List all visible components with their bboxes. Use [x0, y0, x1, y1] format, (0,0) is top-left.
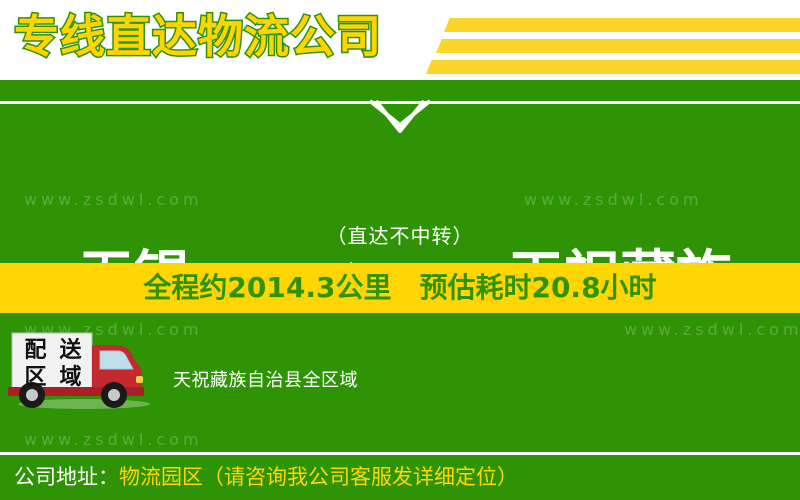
header-stripe-3 — [426, 60, 800, 74]
truck-box-char: 配 — [18, 337, 53, 364]
company-headline: 专线直达物流公司 — [14, 8, 382, 66]
delivery-area-text: 天祝藏族自治县全区域 — [173, 366, 358, 392]
truck-box-char: 域 — [53, 364, 88, 391]
watermark: www.zsdwl.com — [24, 190, 203, 209]
chevron-down-icon — [368, 99, 432, 133]
truck-box-char: 区 — [18, 364, 53, 391]
logistics-banner: 专线直达物流公司 www.zsdwl.com www.zsdwl.com www… — [0, 0, 800, 500]
origin-city: 无锡 — [78, 248, 190, 263]
company-address-value: 物流园区（请咨询我公司客服发详细定位） — [119, 465, 518, 489]
metrics-band: 全程约2014.3公里 预估耗时20.8小时 — [0, 263, 800, 313]
distance-duration-text: 全程约2014.3公里 预估耗时20.8小时 — [0, 263, 800, 313]
banner-header: 专线直达物流公司 — [0, 0, 800, 80]
company-address: 公司地址：物流园区（请咨询我公司客服发详细定位） — [14, 455, 518, 500]
banner-footer: 公司地址：物流园区（请咨询我公司客服发详细定位） — [0, 455, 800, 500]
watermark: www.zsdwl.com — [524, 190, 703, 209]
header-stripe-1 — [444, 18, 800, 32]
destination-city: 天祝藏族 — [508, 248, 732, 263]
header-stripe-2 — [436, 39, 800, 53]
company-address-label: 公司地址： — [14, 465, 119, 489]
route-section: www.zsdwl.com www.zsdwl.com www.zsdwl.co… — [0, 80, 800, 263]
watermark: www.zsdwl.com — [624, 320, 800, 339]
truck-box-label: 配 送 区 域 — [18, 337, 88, 391]
watermark: www.zsdwl.com — [24, 430, 203, 449]
truck-box-char: 送 — [53, 337, 88, 364]
header-stripes-decoration — [418, 0, 800, 80]
